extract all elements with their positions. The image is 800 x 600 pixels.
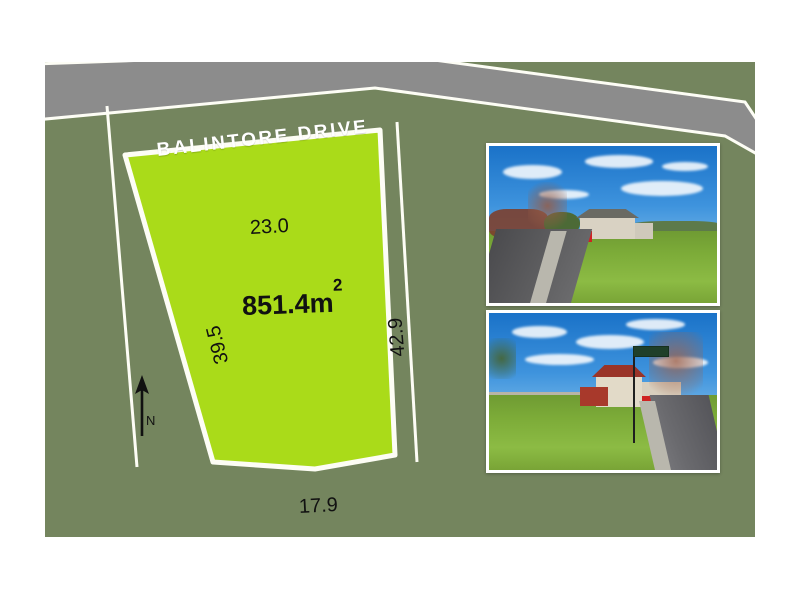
street-sign-blade (633, 346, 669, 357)
dimension-right: 42.9 (384, 317, 410, 358)
cloud (662, 162, 708, 171)
bare-tree (528, 182, 567, 235)
property-photo-top[interactable] (486, 143, 720, 306)
north-arrow-letter: N (146, 413, 155, 428)
lot-area-unit-exponent: 2 (333, 275, 343, 294)
cloud (621, 181, 703, 197)
dimension-top: 23.0 (249, 215, 289, 240)
lot-area-label: 851.4m2 (241, 286, 343, 322)
cloud (512, 326, 567, 339)
foliage-left (489, 338, 516, 379)
cloud (525, 354, 593, 365)
property-photo-top-image (489, 146, 717, 303)
street-sign-post (633, 346, 635, 443)
lot-area-value: 851.4m (241, 288, 334, 321)
cloud (585, 155, 653, 168)
bare-tree (649, 332, 704, 404)
north-arrow: N (129, 374, 163, 436)
property-photo-bottom[interactable] (486, 310, 720, 473)
cloud (503, 165, 562, 179)
site-plan-canvas: BALINTORE DRIVE 23.0 42.9 17.9 39.5 851.… (0, 0, 800, 600)
dimension-bottom: 17.9 (298, 494, 338, 519)
house-wing (580, 387, 607, 406)
property-photo-bottom-image (489, 313, 717, 470)
